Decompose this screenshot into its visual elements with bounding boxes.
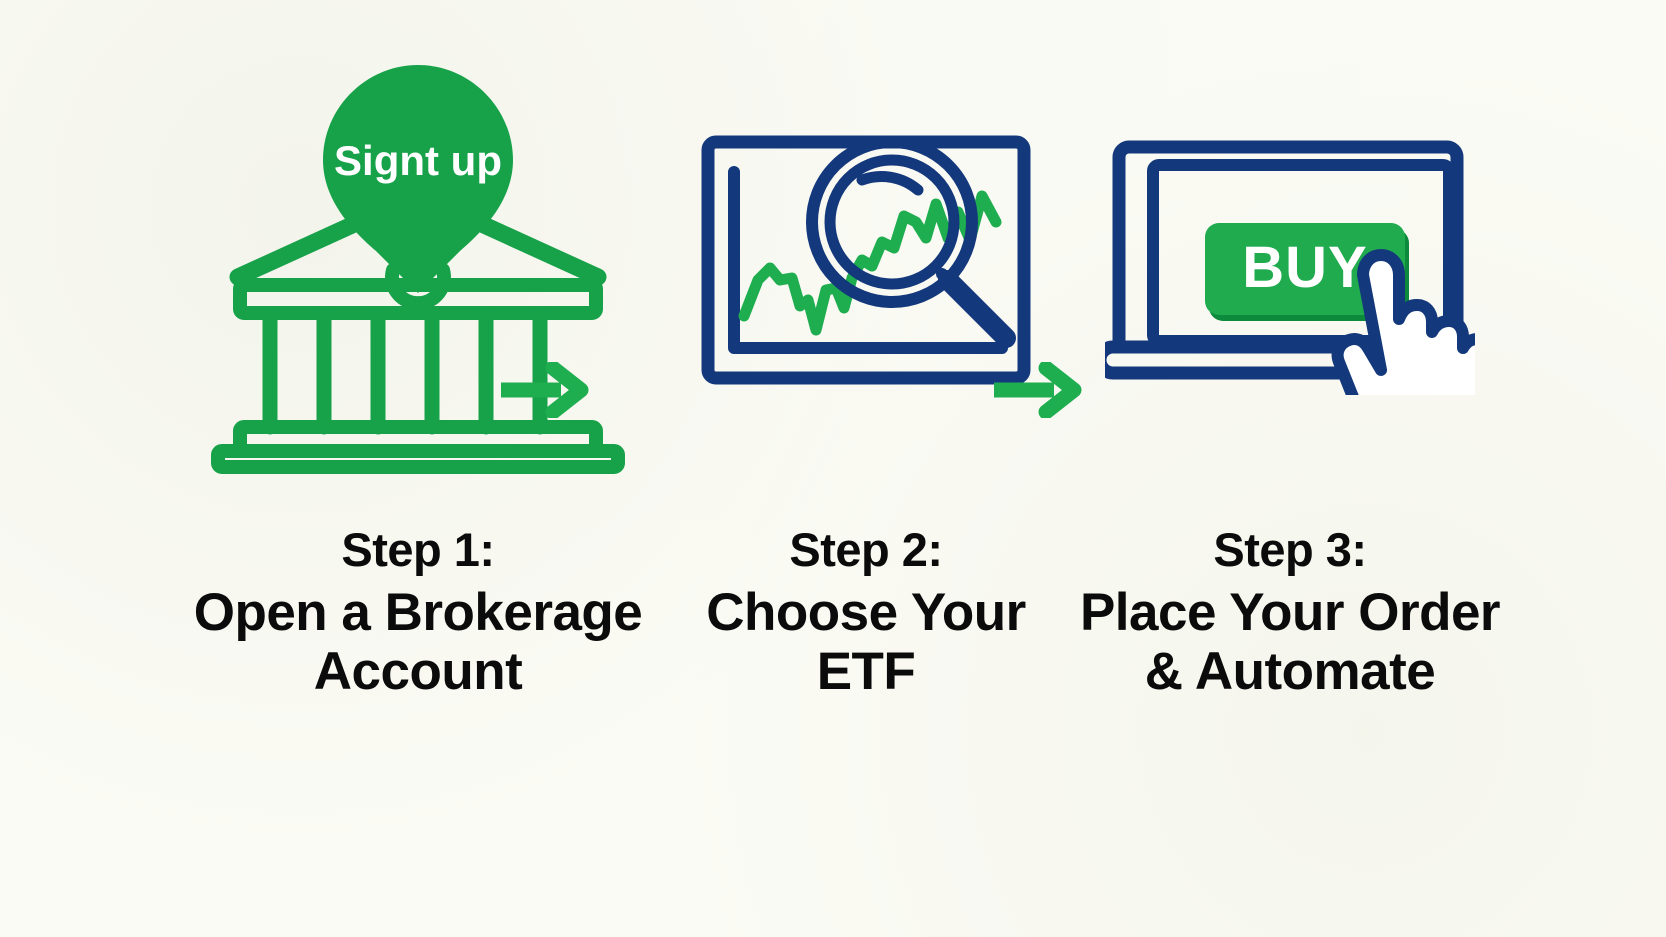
step-2-caption: Step 2: Choose Your ETF bbox=[706, 520, 1025, 701]
connector-arrow-1 bbox=[495, 362, 591, 418]
step-1-title-line-1: Open a Brokerage bbox=[194, 583, 643, 642]
step-card-1: Signt up bbox=[168, 0, 668, 701]
step-card-3: BUY Step 3: Place Your Order & Automate bbox=[1064, 0, 1516, 701]
step-3-title-line-2: & Automate bbox=[1080, 642, 1500, 701]
signup-badge-label: Signt up bbox=[334, 137, 502, 184]
step-2-icon-wrap bbox=[668, 0, 1064, 520]
magnifier-glint bbox=[862, 176, 918, 190]
step-2-title-line-2: ETF bbox=[706, 642, 1025, 701]
arrow-right-icon bbox=[988, 362, 1084, 418]
step-1-icon-wrap: Signt up bbox=[168, 0, 668, 520]
step-3-icon-wrap: BUY bbox=[1064, 0, 1516, 520]
chart-magnifier-icon bbox=[696, 130, 1036, 390]
step-1-caption: Step 1: Open a Brokerage Account bbox=[194, 520, 643, 701]
step-card-2: Step 2: Choose Your ETF bbox=[668, 0, 1064, 701]
step-1-number: Step 1: bbox=[194, 520, 643, 580]
step-3-number: Step 3: bbox=[1080, 520, 1500, 580]
steps-row: Signt up bbox=[0, 0, 1666, 937]
infographic-canvas: Signt up bbox=[0, 0, 1666, 937]
buy-button-label: BUY bbox=[1242, 235, 1367, 300]
connector-arrow-2 bbox=[988, 362, 1084, 418]
step-1-title-line-2: Account bbox=[194, 642, 643, 701]
step-3-caption: Step 3: Place Your Order & Automate bbox=[1080, 520, 1500, 701]
arrow-right-icon bbox=[495, 362, 591, 418]
step-2-title-line-1: Choose Your bbox=[706, 583, 1025, 642]
step-2-number: Step 2: bbox=[706, 520, 1025, 580]
step-3-title-line-1: Place Your Order bbox=[1080, 583, 1500, 642]
magnifier-handle-joint bbox=[942, 274, 954, 286]
laptop-buy-click-icon: BUY bbox=[1105, 125, 1475, 395]
